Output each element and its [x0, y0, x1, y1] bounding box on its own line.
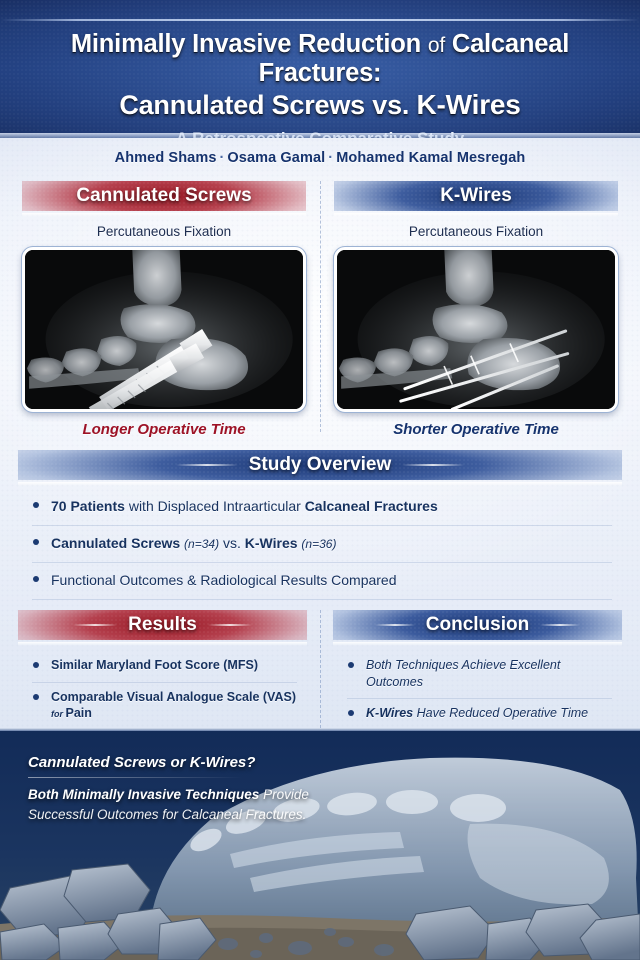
- bullet-text: Have Reduced Operative Time: [413, 706, 588, 720]
- author-list: Ahmed Shams·Osama Gamal·Mohamed Kamal Me…: [18, 138, 622, 175]
- bar-under-glow: [18, 642, 307, 646]
- author-separator: ·: [325, 150, 336, 166]
- overview-heading: Study Overview: [249, 454, 392, 476]
- title-part-a: Minimally Invasive Reduction: [71, 30, 428, 58]
- poster-title-line1: Minimally Invasive Reduction of Calcanea…: [22, 30, 618, 87]
- overview-heading-bar: Study Overview: [18, 450, 622, 480]
- list-item: Comparable Visual Analogue Scale (VAS) f…: [32, 689, 297, 732]
- bar-rule-left: [375, 624, 415, 626]
- poster-footer: Cannulated Screws or K-Wires? Both Minim…: [0, 728, 640, 960]
- author-name: Ahmed Shams: [115, 150, 217, 166]
- list-item: 70 Patients with Displaced Intraarticula…: [32, 497, 612, 526]
- author-name: Osama Gamal: [227, 150, 325, 166]
- panel-heading-bar-left: Cannulated Screws: [22, 181, 306, 211]
- bar-under-glow: [333, 642, 622, 646]
- author-separator: ·: [216, 150, 227, 166]
- results-heading: Results: [128, 614, 197, 636]
- panel-subtitle-right: Percutaneous Fixation: [334, 224, 618, 239]
- footer-answer-line2: Successful Outcomes for Calcaneal Fractu…: [28, 807, 306, 822]
- panel-k-wires: K-Wires Percutaneous Fixation: [320, 181, 622, 438]
- bullet-bold-a: Cannulated Screws: [51, 535, 180, 551]
- study-overview-section: Study Overview 70 Patients with Displace…: [18, 450, 622, 600]
- bar-rule-right: [208, 624, 252, 626]
- poster-root: Minimally Invasive Reduction of Calcanea…: [0, 0, 640, 960]
- panel-heading-bar-right: K-Wires: [334, 181, 618, 211]
- bullet-bold-a: K-Wires: [366, 706, 413, 720]
- bullet-n-value-a: (n=34): [184, 537, 219, 551]
- panel-caption-right: Shorter Operative Time: [334, 421, 618, 438]
- bullet-text-tail: Pain: [66, 706, 92, 720]
- footer-divider: [28, 777, 243, 778]
- bullet-bold-a: 70 Patients: [51, 498, 125, 514]
- panel-cannulated-screws: Cannulated Screws Percutaneous Fixation: [18, 181, 320, 438]
- footer-top-rule: [0, 728, 640, 731]
- bar-under-glow: [22, 213, 306, 217]
- bullet-text: Comparable Visual Analogue Scale (VAS): [51, 690, 296, 704]
- footer-question: Cannulated Screws or K-Wires?: [28, 754, 309, 771]
- panel-subtitle-left: Percutaneous Fixation: [22, 224, 306, 239]
- bullet-small-text: for: [51, 709, 66, 719]
- bar-rule-right: [540, 624, 580, 626]
- xray-ankle-cannulated-screws-icon: [25, 250, 303, 409]
- author-name: Mohamed Kamal Mesregah: [336, 150, 525, 166]
- panel-caption-left: Longer Operative Time: [22, 421, 306, 438]
- bullet-text: Similar Maryland Foot Score (MFS): [51, 658, 258, 672]
- footer-answer-bold: Both Minimally Invasive Techniques: [28, 787, 263, 802]
- conclusion-heading-bar: Conclusion: [333, 610, 622, 640]
- bar-rule-left: [73, 624, 117, 626]
- list-item: Both Techniques Achieve Excellent Outcom…: [347, 657, 612, 700]
- panel-heading-right: K-Wires: [440, 185, 512, 207]
- bar-under-glow: [334, 213, 618, 217]
- poster-title-line2: Cannulated Screws vs. K-Wires: [22, 89, 618, 120]
- title-part-c: Cannulated Screws vs.: [119, 90, 416, 120]
- comparison-panels: Cannulated Screws Percutaneous Fixation: [18, 181, 622, 438]
- bullet-text: Functional Outcomes & Radiological Resul…: [51, 572, 397, 588]
- footer-answer-regular: Provide: [263, 787, 309, 802]
- panel-heading-left: Cannulated Screws: [76, 185, 251, 207]
- bullet-vs: vs.: [219, 535, 245, 551]
- bullet-mid: with Displaced Intraarticular: [125, 498, 305, 514]
- xray-frame-left: [22, 247, 306, 412]
- bullet-n-value-b: (n=36): [301, 537, 336, 551]
- bullet-bold-b: K-Wires: [245, 535, 298, 551]
- xray-ankle-k-wires-icon: [337, 250, 615, 409]
- title-banner: Minimally Invasive Reduction of Calcanea…: [0, 0, 640, 138]
- title-part-of: of: [428, 34, 445, 57]
- poster-body: Ahmed Shams·Osama Gamal·Mohamed Kamal Me…: [0, 138, 640, 728]
- bar-rule-left: [176, 464, 238, 466]
- results-heading-bar: Results: [18, 610, 307, 640]
- footer-answer: Both Minimally Invasive Techniques Provi…: [28, 785, 309, 826]
- list-item: Similar Maryland Foot Score (MFS): [32, 657, 297, 683]
- list-item: Functional Outcomes & Radiological Resul…: [32, 571, 612, 600]
- title-part-kwires: K-Wires: [417, 89, 521, 120]
- xray-frame-right: [334, 247, 618, 412]
- footer-text-block: Cannulated Screws or K-Wires? Both Minim…: [28, 754, 309, 826]
- bullet-bold-b: Calcaneal Fractures: [305, 498, 438, 514]
- bar-under-glow: [18, 482, 622, 486]
- bar-rule-right: [402, 464, 464, 466]
- list-item: Cannulated Screws (n=34) vs. K-Wires (n=…: [32, 534, 612, 563]
- overview-bullets: 70 Patients with Displaced Intraarticula…: [18, 490, 622, 600]
- bullet-text: Both Techniques Achieve Excellent Outcom…: [366, 658, 560, 689]
- conclusion-heading: Conclusion: [426, 614, 529, 636]
